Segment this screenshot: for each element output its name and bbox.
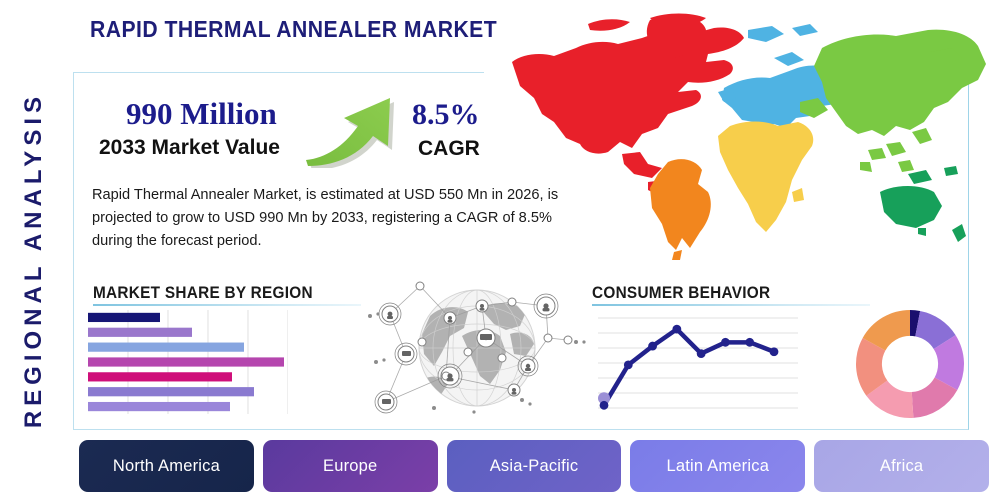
market-share-bar-chart xyxy=(88,310,288,414)
tab-latin-america[interactable]: Latin America xyxy=(630,440,805,492)
tab-asia-pacific-label: Asia-Pacific xyxy=(490,457,579,476)
tab-africa[interactable]: Africa xyxy=(814,440,989,492)
tab-north-america[interactable]: North America xyxy=(79,440,254,492)
cagr-figure: 8.5% xyxy=(412,98,480,132)
market-value-figure: 990 Million xyxy=(126,96,277,132)
section-title-consumer-behavior: CONSUMER BEHAVIOR xyxy=(592,284,770,303)
tab-latin-america-label: Latin America xyxy=(667,457,770,476)
section-title-market-share: MARKET SHARE BY REGION xyxy=(93,284,313,303)
tab-europe-label: Europe xyxy=(323,457,377,476)
growth-arrow-icon xyxy=(298,84,408,168)
tab-asia-pacific[interactable]: Asia-Pacific xyxy=(447,440,622,492)
global-network-globe-icon xyxy=(362,272,592,424)
segment-donut-chart xyxy=(852,306,968,422)
cagr-label: CAGR xyxy=(418,137,480,161)
section-rule-market-share xyxy=(93,304,361,306)
section-rule-consumer-behavior xyxy=(592,304,870,306)
market-value-label: 2033 Market Value xyxy=(99,136,280,160)
tab-africa-label: Africa xyxy=(880,457,923,476)
world-map xyxy=(492,2,998,274)
tab-north-america-label: North America xyxy=(113,457,220,476)
vertical-section-label-text: REGIONAL ANALYSIS xyxy=(20,92,48,428)
consumer-behavior-line-chart xyxy=(598,310,798,416)
tab-europe[interactable]: Europe xyxy=(263,440,438,492)
infographic-root: REGIONAL ANALYSIS RAPID THERMAL ANNEALER… xyxy=(0,0,1000,500)
region-tabs: North America Europe Asia-Pacific Latin … xyxy=(79,440,989,492)
page-title: RAPID THERMAL ANNEALER MARKET xyxy=(90,16,497,43)
vertical-section-label: REGIONAL ANALYSIS xyxy=(6,60,62,460)
